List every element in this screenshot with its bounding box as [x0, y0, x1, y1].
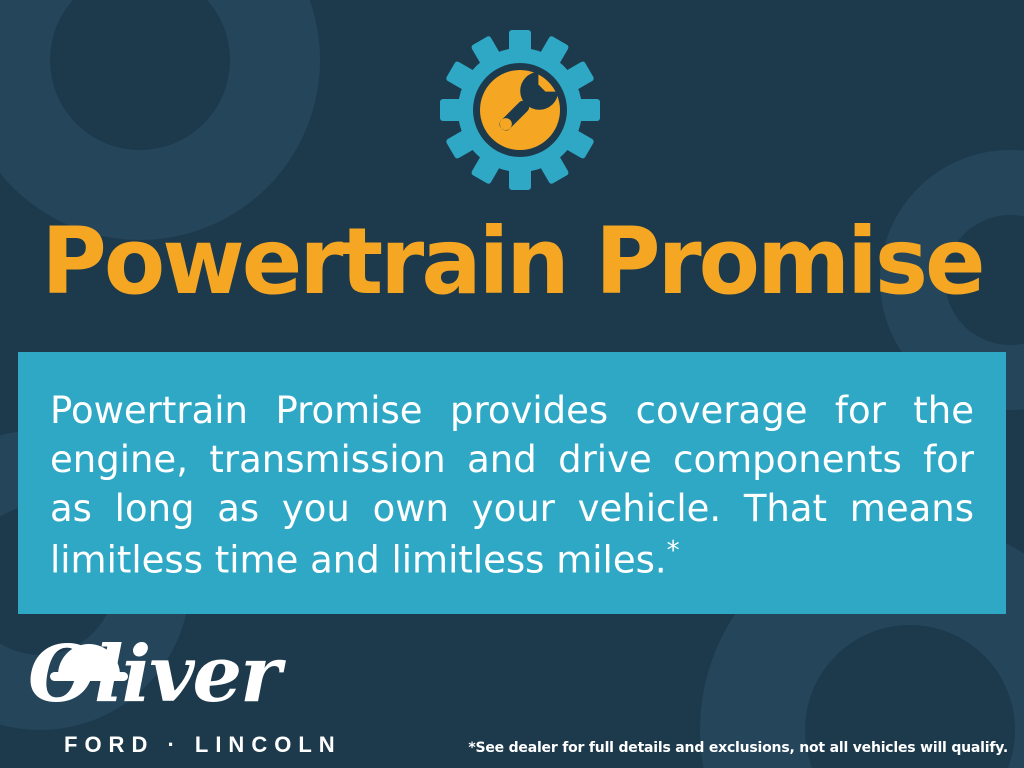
gear-hole [50, 0, 230, 150]
description-body: Powertrain Promise provides coverage for… [50, 389, 974, 581]
gear-wrench-icon [436, 26, 604, 194]
promo-poster: Powertrain Promise Powertrain Promise pr… [0, 0, 1024, 768]
dealer-logo: Oliver FORD · LINCOLN [28, 636, 348, 754]
description-panel: Powertrain Promise provides coverage for… [18, 352, 1006, 614]
description-text: Powertrain Promise provides coverage for… [50, 386, 974, 584]
gear-ring [0, 0, 320, 240]
asterisk-marker: * [667, 536, 680, 566]
disclaimer-text: *See dealer for full details and exclusi… [468, 740, 1008, 756]
background-gear-icon [0, 0, 320, 240]
logo-subtitle: FORD · LINCOLN [64, 732, 342, 758]
logo-cap-brim-icon [50, 672, 128, 681]
page-title: Powertrain Promise [15, 216, 1008, 308]
